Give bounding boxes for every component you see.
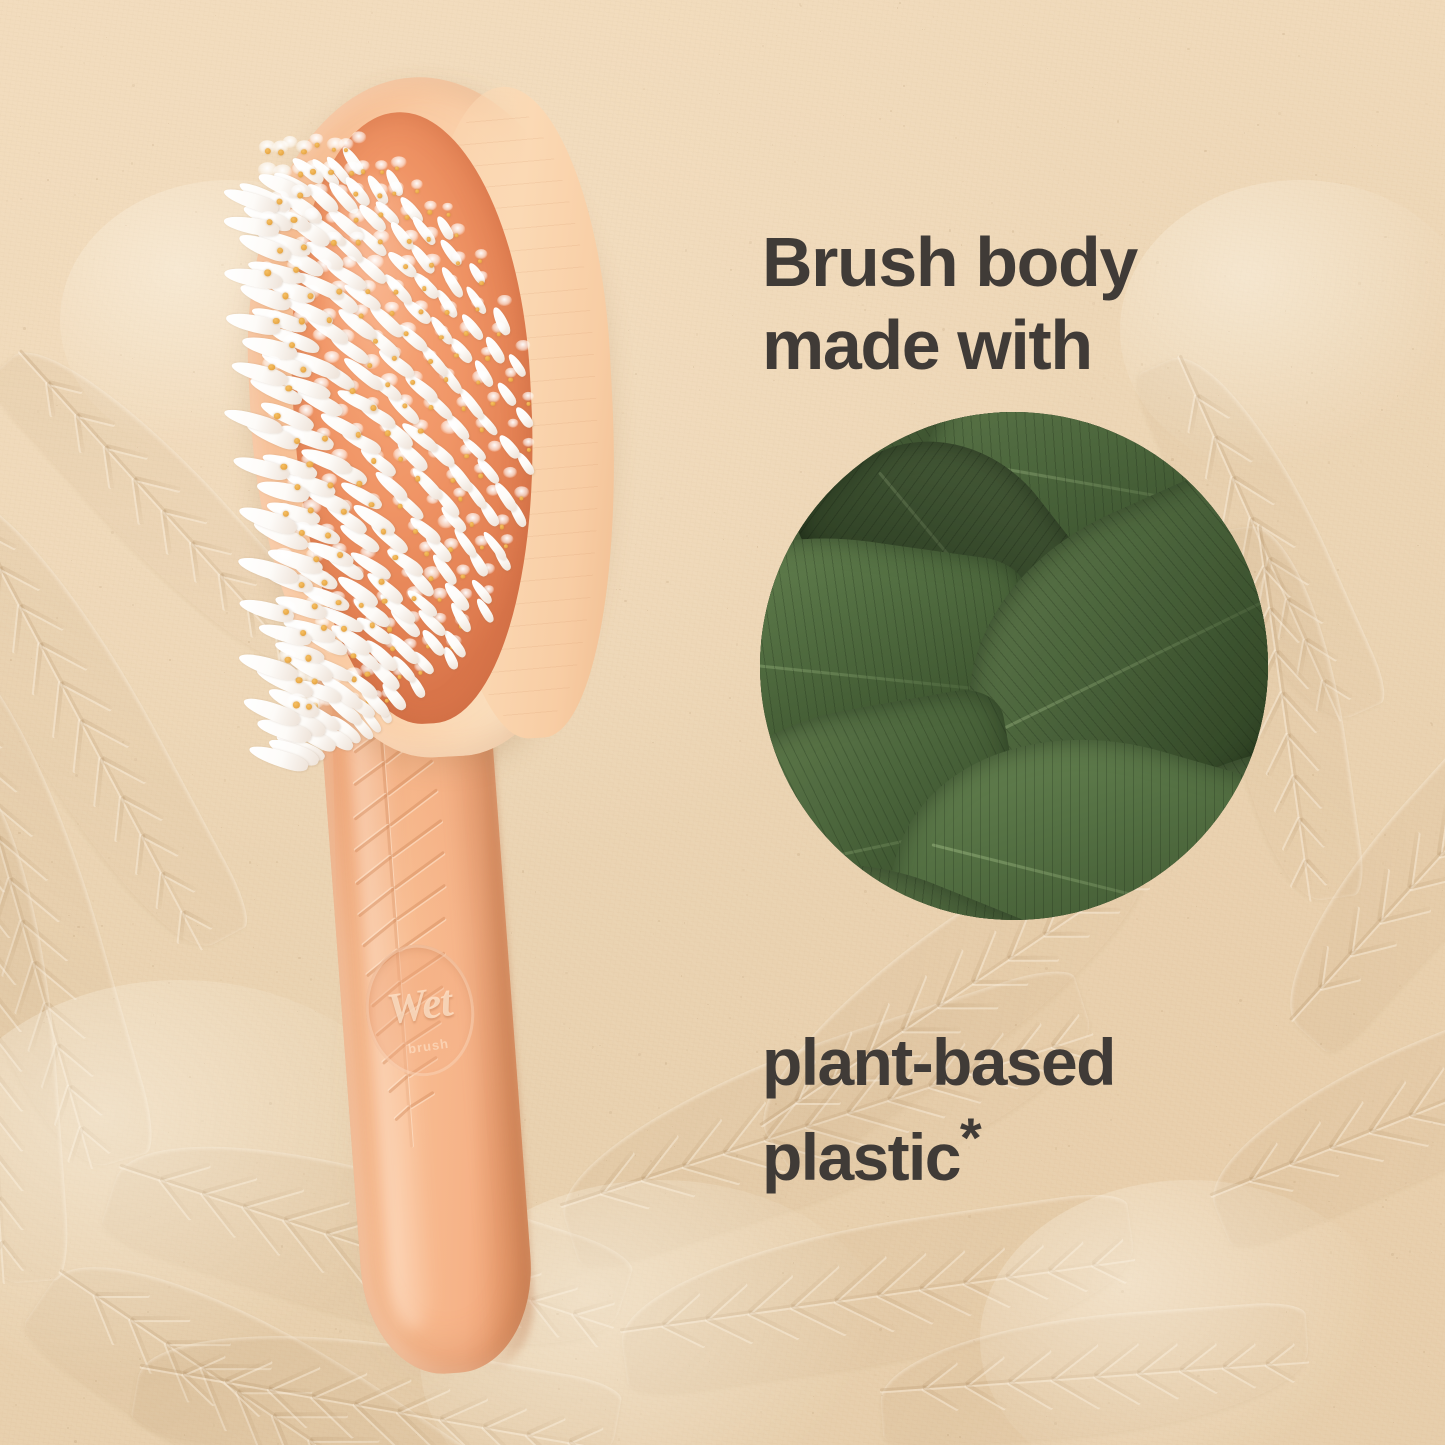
subline-line-1: plant-based — [762, 1025, 1115, 1099]
footnote-marker: * — [960, 1106, 982, 1169]
headline-line-2: made with — [762, 311, 1322, 380]
product-brush: Wet ® brush Wet brush — [225, 55, 655, 1405]
product-marketing-image: Wet ® brush Wet brush Brush body made wi… — [0, 0, 1445, 1445]
brand-logo-wordmark-2: Wet — [383, 975, 454, 1035]
brand-logo-subtext-2: brush — [407, 1036, 450, 1057]
subline-line-2-text: plastic — [762, 1120, 960, 1194]
percentage-badge: 58% — [760, 412, 1268, 920]
subline-line-2: plastic* — [762, 1109, 1342, 1192]
brush-bristles — [233, 68, 628, 766]
subline: plant-based plastic* — [762, 1028, 1342, 1191]
headline: Brush body made with — [762, 228, 1322, 379]
brush-head — [233, 68, 628, 766]
headline-line-1: Brush body — [762, 223, 1137, 301]
marketing-copy-column: Brush body made with 58% plant-based pla… — [760, 0, 1320, 1445]
leaf-photo-background — [760, 412, 1268, 920]
